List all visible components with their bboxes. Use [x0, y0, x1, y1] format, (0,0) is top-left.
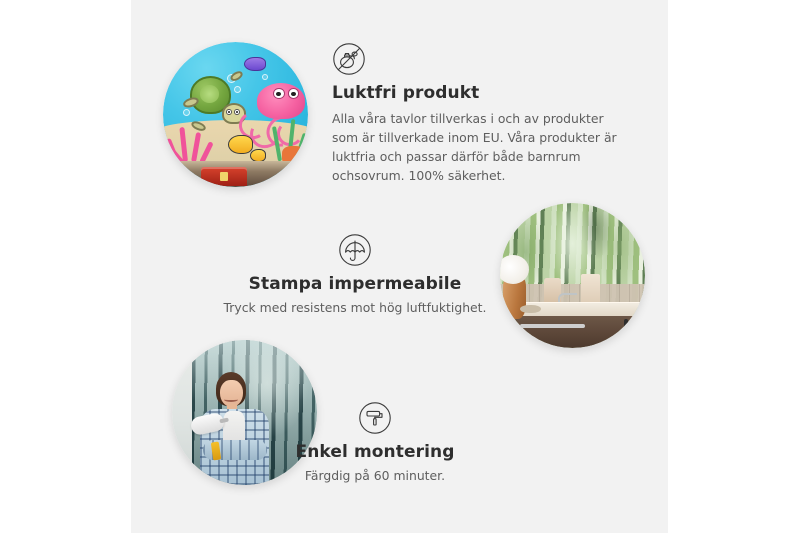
aquatic-scene [163, 42, 308, 187]
feature-title: Enkel montering [240, 442, 510, 463]
treasure-chest-icon [201, 167, 247, 186]
purple-fish-icon [244, 57, 266, 72]
product-feature-page: Luktfri produkt Alla våra tavlor tillver… [0, 0, 800, 533]
umbrella-icon [338, 233, 372, 267]
no-fragrance-icon [332, 42, 366, 76]
feature-body: Tryck med resistens mot hög luftfuktighe… [205, 299, 505, 318]
paint-roller-icon [358, 401, 392, 435]
product-image-bathroom [500, 203, 645, 348]
feature-odourless: Luktfri produkt Alla våra tavlor tillver… [332, 42, 632, 186]
feature-waterproof: Stampa impermeabile Tryck med resistens … [205, 233, 505, 318]
bathroom-scene [500, 203, 645, 348]
feature-body: Färgdig på 60 minuter. [240, 467, 510, 486]
feature-title: Stampa impermeabile [205, 274, 505, 295]
coral-icon [172, 122, 216, 163]
sea-turtle-icon [186, 74, 247, 126]
feature-easy-mount: Enkel montering Färgdig på 60 minuter. [240, 401, 510, 486]
yellow-fish-icon [228, 135, 253, 154]
feature-title: Luktfri produkt [332, 83, 632, 104]
vanity-cabinet [512, 316, 645, 348]
product-image-aquatic [163, 42, 308, 187]
soap-dish-icon [520, 305, 540, 314]
bubble-icon [262, 74, 268, 80]
feature-body: Alla våra tavlor tillverkas i och av pro… [332, 110, 632, 185]
